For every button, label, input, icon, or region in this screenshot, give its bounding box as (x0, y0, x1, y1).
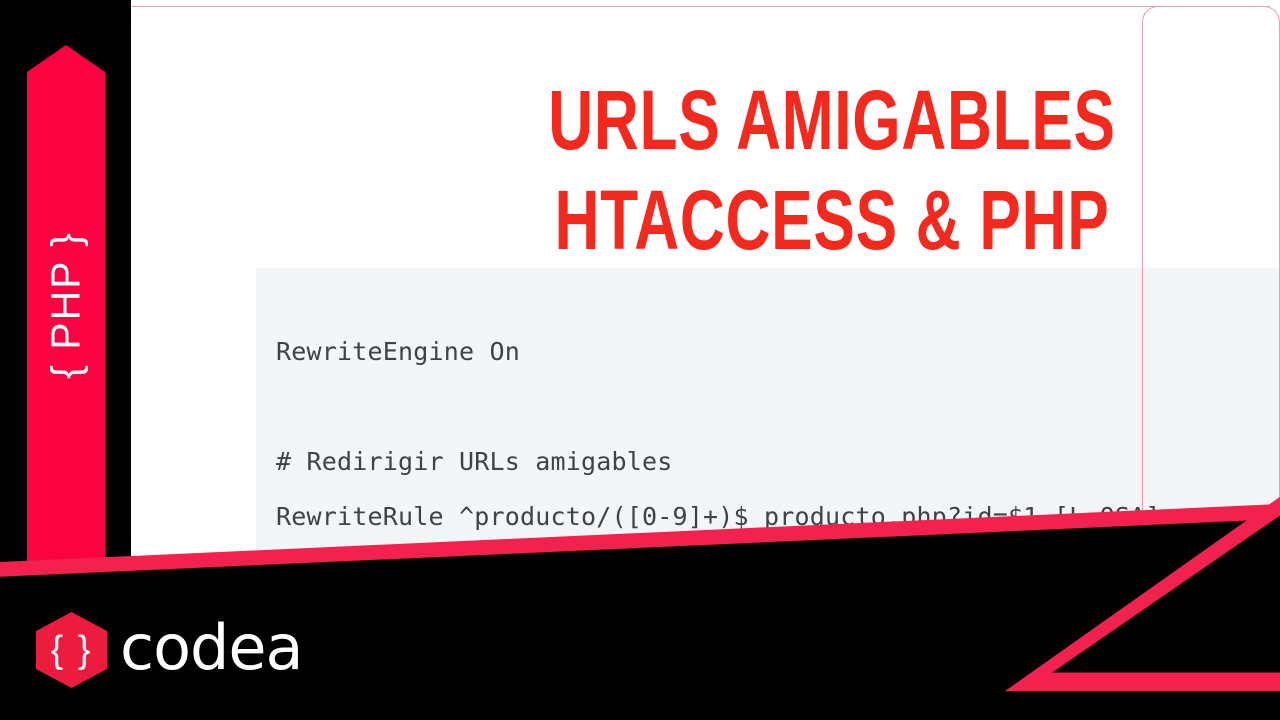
code-line: RewriteEngine On (276, 324, 1280, 379)
slide-title-line-2: HTACCESS & PHP (406, 170, 1258, 270)
slide-canvas: URLS AMIGABLES HTACCESS & PHP RewriteEng… (0, 0, 1280, 720)
codea-hexagon-icon: { } (36, 612, 107, 688)
slide-title-line-1: URLS AMIGABLES (406, 70, 1258, 170)
php-ribbon: { PHP } (27, 45, 105, 565)
code-line: # Redirigir URLs amigables (276, 434, 1280, 489)
codea-logo: { } codea (36, 612, 303, 688)
code-line-blank (276, 379, 1280, 434)
php-ribbon-label: { PHP } (43, 231, 90, 379)
braces-icon: { } (36, 612, 107, 688)
slide-title: URLS AMIGABLES HTACCESS & PHP (256, 70, 1280, 270)
codea-wordmark: codea (120, 617, 303, 679)
